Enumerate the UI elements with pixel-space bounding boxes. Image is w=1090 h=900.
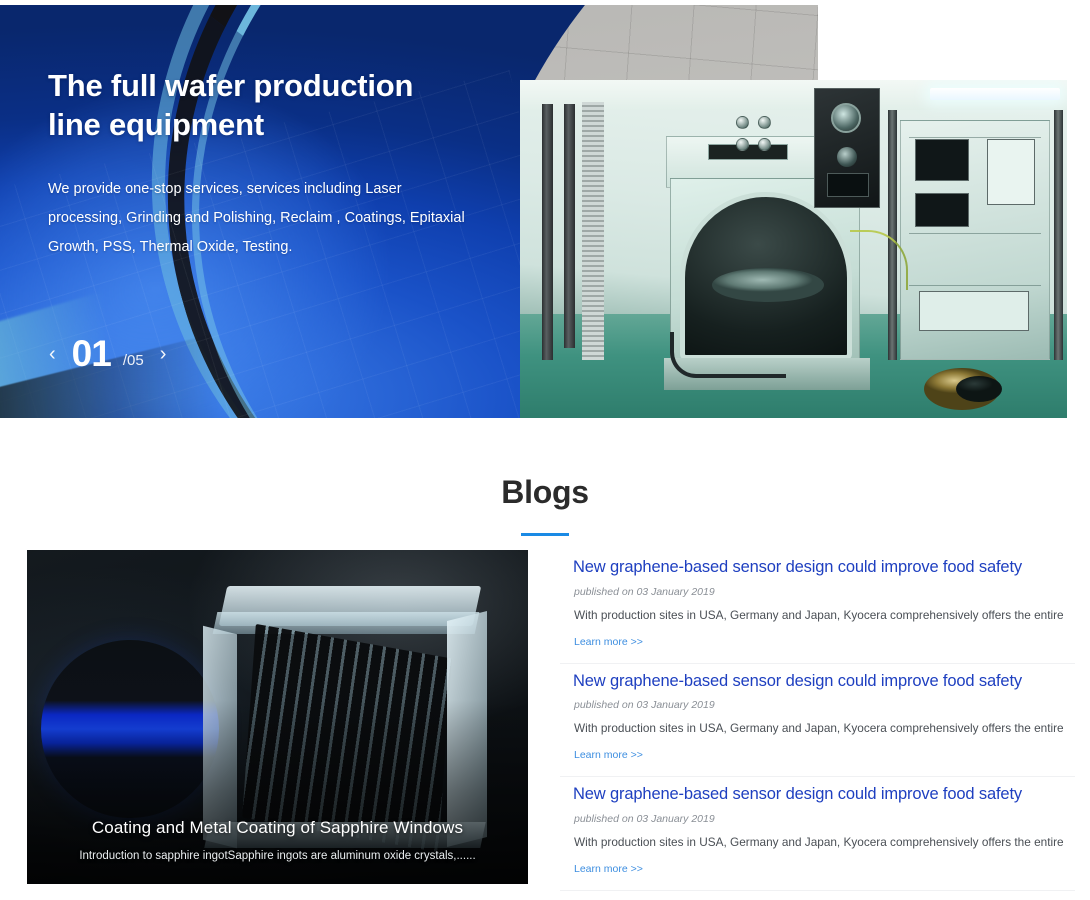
blog-list: New graphene-based sensor design could i… [560,550,1075,891]
photo-rack-module [915,193,969,227]
featured-caption: Coating and Metal Coating of Sapphire Wi… [27,818,528,862]
photo-frame-post-right [1054,110,1063,360]
blog-item-excerpt: With production sites in USA, Germany an… [574,835,1075,851]
photo-cable-spool-core [956,376,1002,402]
blog-item-title[interactable]: New graphene-based sensor design could i… [573,784,1075,805]
photo-rack-shelf [909,137,1041,138]
photo-control-knob [736,116,749,129]
blogs-section-heading: Blogs [0,474,1090,536]
blog-item-date: published on 03 January 2019 [574,586,1075,598]
photo-pipe-left-2 [564,104,575,348]
heading-accent-bar [521,533,569,536]
photo-ceiling-light [930,88,1060,100]
list-item[interactable]: New graphene-based sensor design could i… [560,777,1075,891]
blog-item-title[interactable]: New graphene-based sensor design could i… [573,671,1075,692]
featured-blog-card[interactable]: Coating and Metal Coating of Sapphire Wi… [27,550,528,884]
hero-carousel-controls[interactable]: ‹ 01 /05 › [45,335,170,372]
photo-control-knob [736,138,749,151]
photo-control-module [814,88,880,208]
hero-description: We provide one-stop services, services i… [48,175,468,262]
photo-rack-module [915,139,969,181]
photo-module-screen [827,173,869,197]
blog-item-date: published on 03 January 2019 [574,813,1075,825]
photo-module-dial [831,103,861,133]
learn-more-link[interactable]: Learn more >> [574,749,643,761]
photo-pipe-left [542,104,553,360]
carousel-total-slides: /05 [123,352,144,372]
photo-rack-module [919,291,1029,331]
blog-item-excerpt: With production sites in USA, Germany an… [574,608,1075,624]
featured-title: Coating and Metal Coating of Sapphire Wi… [53,818,502,838]
photo-frame-post-left [888,110,897,360]
featured-subtitle: Introduction to sapphire ingotSapphire i… [53,850,502,862]
hero-title-line-1: The full wafer production [48,68,413,103]
photo-control-knob [758,116,771,129]
hero-title: The full wafer production line equipment [48,67,468,145]
chevron-right-icon[interactable]: › [156,342,171,366]
photo-hose [670,332,786,378]
blog-item-title[interactable]: New graphene-based sensor design could i… [573,557,1075,578]
photo-rack-shelf [909,285,1041,286]
learn-more-link[interactable]: Learn more >> [574,863,643,875]
photo-equipment-rack [900,120,1050,360]
photo-control-knob [758,138,771,151]
blog-item-date: published on 03 January 2019 [574,699,1075,711]
photo-polishing-platter [712,268,824,302]
list-item[interactable]: New graphene-based sensor design could i… [560,550,1075,664]
chevron-left-icon[interactable]: ‹ [45,342,60,366]
photo-rack-shelf [909,233,1041,234]
learn-more-link[interactable]: Learn more >> [574,636,643,648]
photo-module-dial-small [837,147,857,167]
blog-item-excerpt: With production sites in USA, Germany an… [574,721,1075,737]
carousel-current-slide: 01 [72,335,111,372]
photo-rack-module [987,139,1035,205]
hero-text-block: The full wafer production line equipment… [48,67,468,262]
photo-air-duct [582,102,604,360]
hero-equipment-photo [520,80,1067,418]
page-title: Blogs [0,474,1090,511]
hero-title-line-2: line equipment [48,107,264,142]
list-item[interactable]: New graphene-based sensor design could i… [560,664,1075,778]
